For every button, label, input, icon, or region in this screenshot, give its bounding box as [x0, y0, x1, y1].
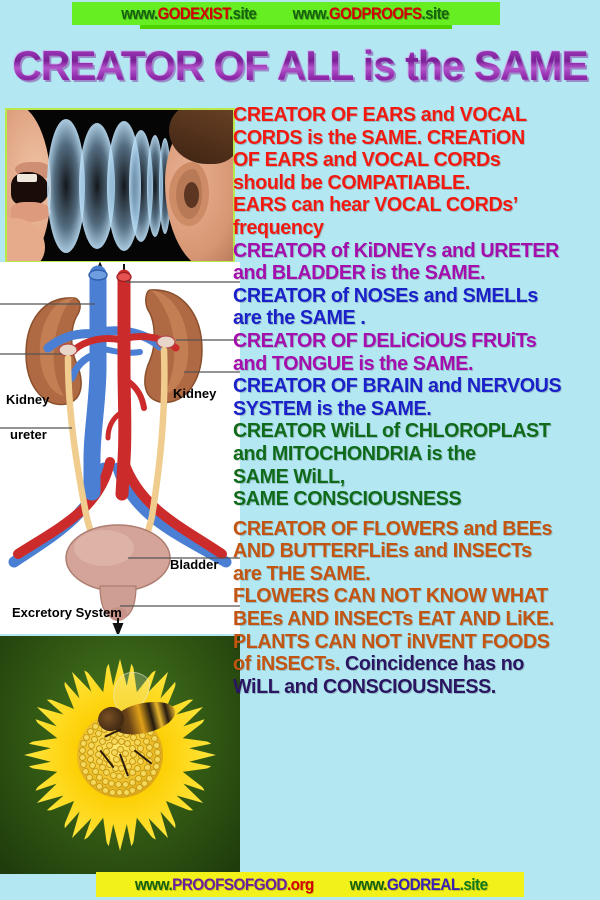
excretory-system-diagram: Kidney Kidney ureter Bladder Excretory S…	[0, 262, 240, 634]
text-line: CREATOR OF DELiCiOUS FRUiTs	[233, 330, 585, 353]
pollen-dot	[89, 762, 96, 769]
url-prefix: www.	[349, 875, 386, 894]
bottom-url-banner: www.PROOFSOFGOD.org www.GODREAL.site	[96, 872, 524, 897]
teeth-shape	[17, 174, 37, 182]
text-line: SAME WiLL,	[233, 466, 585, 489]
pollen-dot	[115, 781, 122, 788]
text-block-brain-nervous-system: CREATOR OF BRAIN and NERVOUS SYSTEM is t…	[233, 375, 600, 420]
text-line: and MITOCHONDRIA is the	[233, 443, 585, 466]
text-line: OF EARS and VOCAL CORDs	[233, 149, 585, 172]
pollen-dot	[116, 789, 123, 796]
text-span-navy: Coincidence has no	[340, 652, 524, 675]
pollen-dot	[102, 787, 109, 794]
text-block-flowers-bees-insects: CREATOR OF FLOWERS and BEEs AND BUTTERFL…	[233, 518, 600, 654]
pollen-dot	[146, 744, 153, 751]
label-kidney-right: Kidney	[173, 386, 216, 401]
text-line: CREATOR OF EARS and VOCAL	[233, 104, 585, 127]
pollen-dot	[80, 761, 87, 768]
url-prefix: www.	[293, 4, 329, 23]
url-prefix: www.	[122, 4, 158, 23]
main-text-column: CREATOR OF EARS and VOCAL CORDS is the S…	[233, 104, 600, 698]
text-line: CREATOR WiLL of CHLOROPLAST	[233, 420, 585, 443]
url-tld: .site	[422, 4, 449, 23]
url-godreal[interactable]: www.GODREAL.site	[349, 875, 487, 895]
text-span-orange: of iNSECTs.	[233, 652, 340, 675]
pollen-dot	[122, 781, 129, 788]
label-bladder: Bladder	[170, 557, 218, 572]
text-block-noses-smells: CREATOR of NOSEs and SMELLs are the SAME…	[233, 285, 600, 330]
url-domain: GODEXIST	[158, 4, 229, 23]
banner-underline-rule	[140, 25, 452, 29]
text-line: and TONGUE is the SAME.	[233, 353, 585, 376]
text-line: CREATOR of NOSEs and SMELLs	[233, 285, 585, 308]
ear-canal-shape	[184, 182, 199, 208]
text-line: CREATOR of KiDNEYs and URETER	[233, 240, 585, 263]
pollen-dot	[79, 747, 86, 754]
pollen-dot	[137, 745, 144, 752]
pollen-dot	[154, 756, 161, 763]
label-kidney-left: Kidney	[6, 392, 49, 407]
url-tld: .site	[459, 875, 487, 894]
pollen-dot	[113, 756, 120, 763]
pollen-dot	[99, 764, 106, 771]
excretory-system-svg	[0, 262, 240, 634]
text-line: FLOWERS CAN NOT KNOW WHAT	[233, 585, 585, 608]
text-line-mixed: of iNSECTs. Coincidence has no	[233, 653, 585, 676]
pollen-dot	[146, 751, 153, 758]
text-line: PLANTS CAN NOT iNVENT FOODS	[233, 631, 585, 654]
url-domain: PROOFSOFGOD	[172, 875, 287, 894]
text-line: CORDS is the SAME. CREATiON	[233, 127, 585, 150]
text-line: WiLL and CONSCIOUSNESS.	[233, 676, 585, 699]
text-block-chloroplast-mitochondria: CREATOR WiLL of CHLOROPLAST and MITOCHON…	[233, 420, 600, 510]
text-block-kidneys-ureter-bladder: CREATOR of KiDNEYs and URETER and BLADDE…	[233, 240, 600, 285]
pollen-dot	[96, 758, 103, 765]
aorta-shape	[122, 276, 125, 494]
text-line: should be COMPATIABLE.	[233, 172, 585, 195]
text-block-ears-vocal-cords: CREATOR OF EARS and VOCAL CORDS is the S…	[233, 104, 600, 240]
text-line: AND BUTTERFLiEs and INSECTs	[233, 540, 585, 563]
url-prefix: www.	[135, 875, 172, 894]
text-line: and BLADDER is the SAME.	[233, 262, 585, 285]
pollen-dot	[117, 746, 124, 753]
pollen-dot	[87, 756, 94, 763]
pollen-dot	[80, 740, 87, 747]
pollen-dot	[79, 754, 86, 761]
text-line: CREATOR OF BRAIN and NERVOUS	[233, 375, 585, 398]
label-ureter: ureter	[10, 427, 47, 442]
text-line: frequency	[233, 217, 585, 240]
pollen-dot	[86, 774, 93, 781]
label-excretory-system: Excretory System	[12, 605, 122, 620]
text-line: SYSTEM is the SAME.	[233, 398, 585, 421]
url-tld: .site	[230, 4, 257, 23]
url-domain: GODREAL	[387, 875, 460, 894]
text-line: are THE SAME.	[233, 563, 585, 586]
text-block-coincidence: of iNSECTs. Coincidence has no WiLL and …	[233, 653, 600, 698]
url-proofsofgod[interactable]: www.PROOFSOFGOD.org	[135, 875, 314, 895]
text-line: EARS can hear VOCAL CORDs’	[233, 194, 585, 217]
url-domain: GODPROOFS	[329, 4, 421, 23]
text-line: SAME CONSCIOUSNESS	[233, 488, 585, 511]
pollen-dot	[82, 768, 89, 775]
url-godexist[interactable]: www.GODEXIST.site	[122, 4, 257, 24]
pollen-dot	[116, 773, 123, 780]
url-godproofs[interactable]: www.GODPROOFS.site	[293, 4, 449, 24]
pollen-dot	[108, 780, 115, 787]
pollen-dot	[110, 772, 117, 779]
vena-cava-shape	[92, 274, 98, 492]
pollen-dot	[88, 742, 95, 749]
pollen-dot	[129, 779, 136, 786]
url-tld: .org	[287, 875, 314, 894]
text-line: CREATOR OF FLOWERS and BEEs	[233, 518, 585, 541]
text-block-fruits-tongue: CREATOR OF DELiCiOUS FRUiTs and TONGUE i…	[233, 330, 600, 375]
text-line: BEEs AND INSECTs EAT AND LiKE.	[233, 608, 585, 631]
pollen-dot	[87, 749, 94, 756]
pollen-dot	[136, 784, 143, 791]
pollen-dot	[123, 789, 130, 796]
mouth-soundwave-ear-photo	[5, 108, 235, 263]
pollen-dot	[153, 742, 160, 749]
page-title: CREATOR OF ALL is the SAME	[9, 40, 591, 92]
pollen-dot	[102, 778, 109, 785]
text-line: are the SAME .	[233, 307, 585, 330]
bee-on-yellow-flower-photo	[0, 636, 240, 874]
pollen-dot	[129, 787, 136, 794]
top-url-banner: www.GODEXIST.site www.GODPROOFS.site	[72, 2, 500, 25]
pollen-dot	[109, 789, 116, 796]
pollen-dot	[154, 749, 161, 756]
